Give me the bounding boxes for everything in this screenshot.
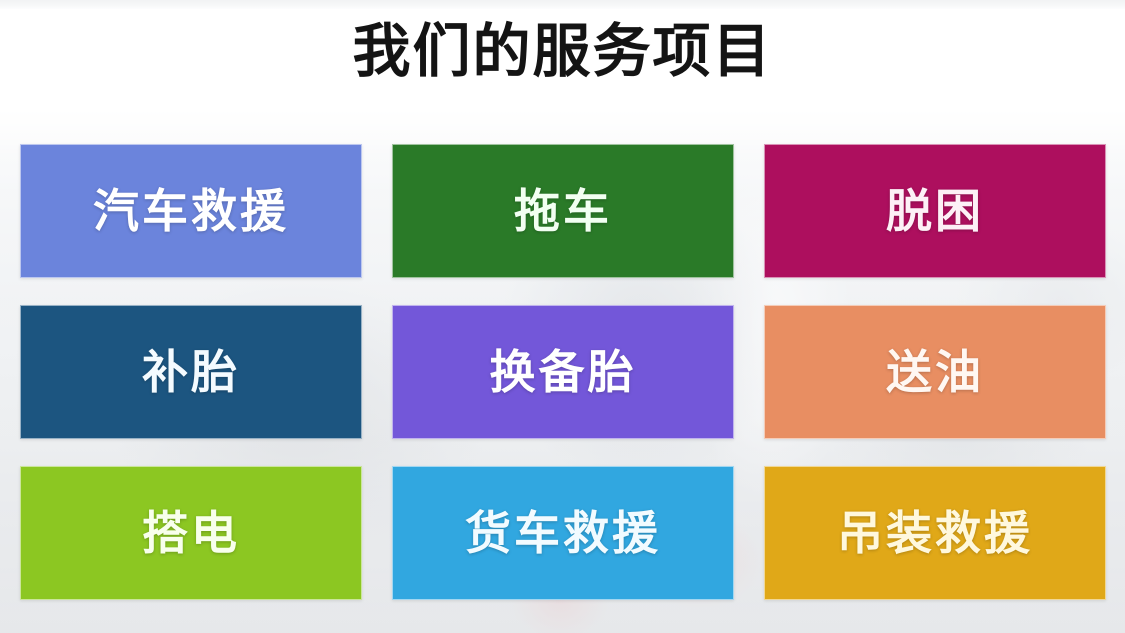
page-title: 我们的服务项目 bbox=[0, 22, 1125, 83]
service-poster: 我们的服务项目 汽车救援拖车脱困补胎换备胎送油搭电货车救援吊装救援 bbox=[0, 0, 1125, 633]
service-tile[interactable]: 送油 bbox=[764, 305, 1106, 439]
service-tile[interactable]: 拖车 bbox=[392, 144, 734, 278]
services-grid: 汽车救援拖车脱困补胎换备胎送油搭电货车救援吊装救援 bbox=[20, 144, 1106, 600]
service-tile[interactable]: 吊装救援 bbox=[764, 466, 1106, 600]
service-tile[interactable]: 补胎 bbox=[20, 305, 362, 439]
service-tile[interactable]: 脱困 bbox=[764, 144, 1106, 278]
service-tile-label: 补胎 bbox=[142, 349, 240, 395]
top-edge-strip bbox=[0, 0, 1125, 9]
service-tile-label: 货车救援 bbox=[465, 510, 661, 556]
service-tile-label: 送油 bbox=[886, 349, 984, 395]
service-tile[interactable]: 换备胎 bbox=[392, 305, 734, 439]
service-tile[interactable]: 货车救援 bbox=[392, 466, 734, 600]
service-tile-label: 脱困 bbox=[886, 188, 984, 234]
service-tile-label: 汽车救援 bbox=[93, 188, 289, 234]
service-tile-label: 换备胎 bbox=[490, 349, 637, 395]
service-tile-label: 搭电 bbox=[142, 510, 240, 556]
service-tile[interactable]: 搭电 bbox=[20, 466, 362, 600]
service-tile[interactable]: 汽车救援 bbox=[20, 144, 362, 278]
service-tile-label: 拖车 bbox=[514, 188, 612, 234]
service-tile-label: 吊装救援 bbox=[837, 510, 1033, 556]
